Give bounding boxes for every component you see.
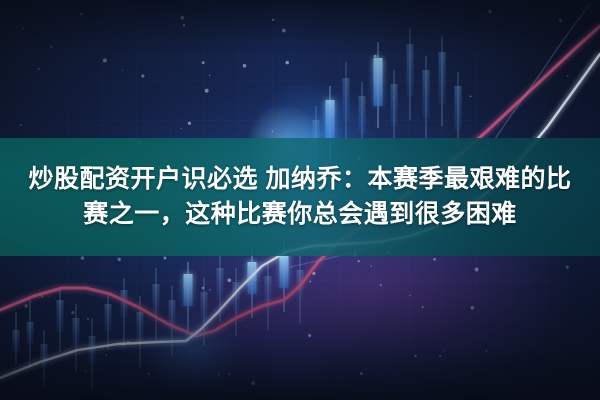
headline-block: 炒股配资开户识必选 加纳乔：本赛季最艰难的比 赛之一，这种比赛你总会遇到很多困难 — [0, 138, 600, 256]
headline-line-1: 炒股配资开户识必选 加纳乔：本赛季最艰难的比 — [29, 165, 572, 194]
headline-line-2: 赛之一，这种比赛你总会遇到很多困难 — [83, 200, 517, 229]
promo-banner-image: 炒股配资开户识必选 加纳乔：本赛季最艰难的比 赛之一，这种比赛你总会遇到很多困难 — [0, 0, 600, 400]
